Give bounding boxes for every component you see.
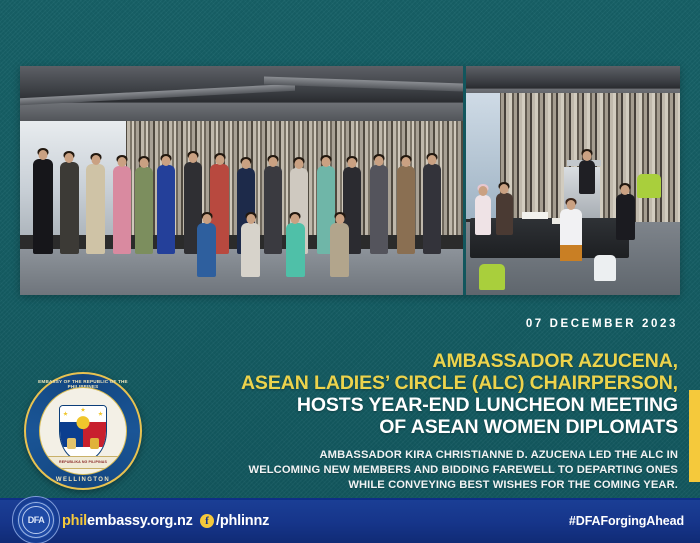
seal-scroll: REPUBLIKA NG PILIPINAS	[45, 456, 121, 469]
person	[135, 167, 153, 254]
headline-line-4: OF ASEAN WOMEN DIPLOMATS	[198, 416, 678, 438]
person	[397, 166, 415, 254]
headline-line-1: AMBASSADOR AZUCENA,	[198, 350, 678, 372]
facebook-icon[interactable]: f	[200, 514, 214, 528]
meeting-table	[470, 218, 628, 258]
paper	[522, 212, 548, 219]
poster-canvas: 07 DECEMBER 2023 AMBASSADOR AZUCENA, ASE…	[0, 0, 700, 543]
person	[86, 164, 105, 254]
body-line-3: WHILE CONVEYING BEST WISHES FOR THE COMI…	[158, 478, 678, 493]
body-copy: AMBASSADOR KIRA CHRISTIANNE D. AZUCENA L…	[158, 448, 678, 492]
dfa-seal-icon: DFA	[12, 496, 60, 543]
seal-text-bottom: WELLINGTON	[24, 477, 142, 483]
lion-icon	[90, 438, 99, 449]
hashtag: #DFAForgingAhead	[569, 514, 684, 528]
attendee	[616, 194, 635, 240]
attendee-skirt	[560, 245, 582, 261]
person	[264, 166, 282, 254]
person	[33, 159, 53, 254]
person-seated	[197, 223, 216, 277]
person	[113, 166, 131, 254]
dfa-seal-label: DFA	[28, 515, 45, 525]
body-line-2: WELCOMING NEW MEMBERS AND BIDDING FAREWE…	[158, 463, 678, 478]
headline: AMBASSADOR AZUCENA, ASEAN LADIES’ CIRCLE…	[198, 350, 678, 438]
accent-bar	[689, 390, 700, 482]
event-date: 07 DECEMBER 2023	[526, 318, 678, 330]
coat-of-arms-shield	[59, 405, 107, 461]
chair	[594, 255, 616, 281]
speaker	[579, 160, 595, 194]
eagle-icon	[67, 438, 76, 449]
speaker-photo	[466, 66, 680, 295]
sun-icon	[77, 417, 90, 430]
chair	[637, 174, 661, 198]
website-prefix: phil	[62, 513, 87, 529]
person-seated	[286, 223, 305, 277]
facebook-handle: /phlinnz	[216, 513, 269, 529]
attendee	[496, 193, 513, 235]
body-line-1: AMBASSADOR KIRA CHRISTIANNE D. AZUCENA L…	[158, 448, 678, 463]
person	[423, 164, 441, 254]
person-seated	[330, 223, 349, 277]
photo-band	[20, 66, 680, 295]
person	[60, 162, 79, 254]
footer-bar: DFA philembassy.org.nz f /phlinnz #DFAFo…	[0, 498, 700, 543]
embassy-seal: EMBASSY OF THE REPUBLIC OF THE PHILIPPIN…	[24, 372, 142, 490]
person	[370, 165, 388, 254]
chair	[479, 264, 505, 290]
website-suffix: embassy.org.nz	[87, 513, 193, 529]
website-link[interactable]: philembassy.org.nz	[62, 513, 193, 529]
headline-line-2: ASEAN LADIES’ CIRCLE (ALC) CHAIRPERSON,	[198, 372, 678, 394]
attendee	[475, 195, 491, 235]
seal-inner-disc: REPUBLIKA NG PILIPINAS	[39, 387, 127, 475]
person	[157, 165, 175, 254]
headline-line-3: HOSTS YEAR-END LUNCHEON MEETING	[198, 394, 678, 416]
person-seated	[241, 223, 260, 277]
facebook-link[interactable]: f /phlinnz	[200, 513, 269, 529]
group-photo	[20, 66, 463, 295]
